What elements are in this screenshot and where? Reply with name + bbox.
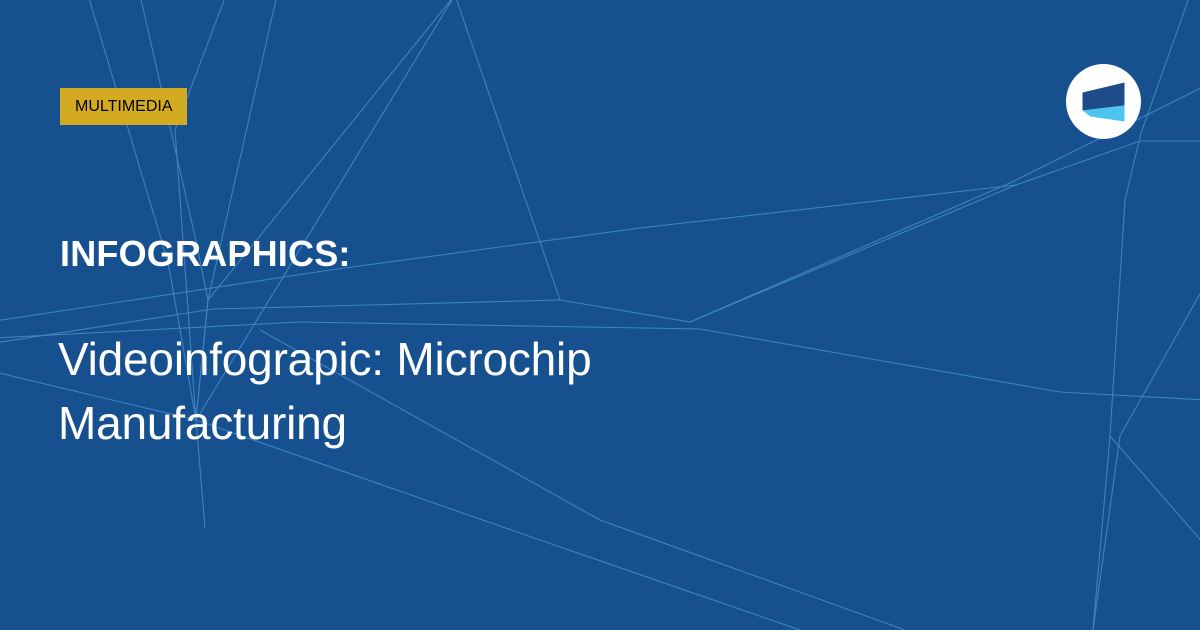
page-title: Videoinfograpic: Microchip Manufacturing bbox=[58, 327, 698, 455]
social-share-card: MULTIMEDIA INFOGRAPHICS: Videoinfograpic… bbox=[0, 0, 1200, 630]
page-title-line-2: Manufacturing bbox=[58, 391, 698, 455]
page-title-line-1: Videoinfograpic: Microchip bbox=[58, 327, 698, 391]
page-kicker: INFOGRAPHICS: bbox=[60, 236, 351, 272]
category-badge-label: MULTIMEDIA bbox=[75, 98, 172, 116]
category-badge[interactable]: MULTIMEDIA bbox=[60, 88, 187, 125]
brand-logo[interactable] bbox=[1066, 64, 1141, 139]
